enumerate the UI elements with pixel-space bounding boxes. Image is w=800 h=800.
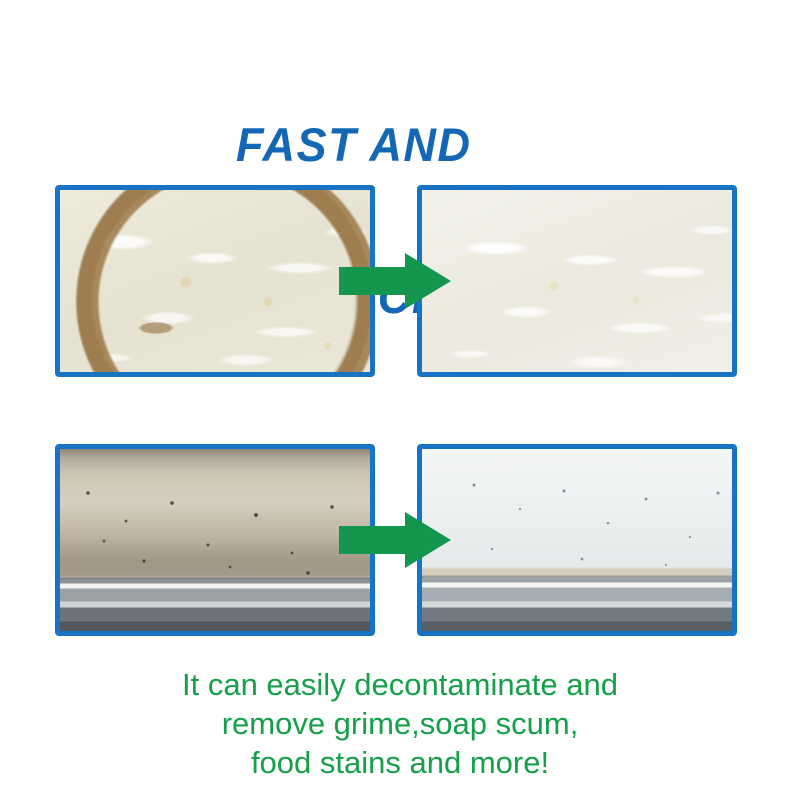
caption-line-1: It can easily decontaminate and xyxy=(0,666,800,705)
caption-text: It can easily decontaminate and remove g… xyxy=(0,666,800,782)
right-arrow-icon xyxy=(339,510,451,570)
caption-line-3: food stains and more! xyxy=(0,744,800,783)
before-photo-countertop xyxy=(55,185,375,377)
after-photo-countertop xyxy=(417,185,737,377)
photo-clean-marble-countertop xyxy=(422,190,732,372)
before-photo-caulk-track xyxy=(55,444,375,636)
caption-line-2: remove grime,soap scum, xyxy=(0,705,800,744)
right-arrow-icon xyxy=(339,251,451,311)
photo-mouldy-caulk-track xyxy=(60,449,370,631)
photo-clean-caulk-track xyxy=(422,449,732,631)
after-photo-caulk-track xyxy=(417,444,737,636)
photo-stained-marble-countertop xyxy=(60,190,370,372)
